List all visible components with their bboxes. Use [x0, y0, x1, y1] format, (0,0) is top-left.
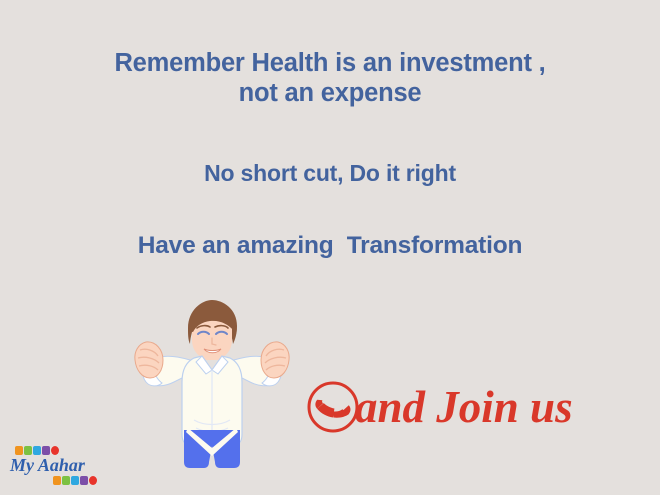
page-title: Remember Health is an investment , not a…	[0, 48, 660, 108]
logo-color-bar-bottom	[53, 476, 106, 485]
phone-circle-icon[interactable]	[305, 379, 361, 435]
logo-wordmark: My Aahar	[10, 456, 106, 475]
poster-canvas: Remember Health is an investment , not a…	[0, 0, 660, 495]
logo-color-bar-top	[15, 446, 106, 455]
cta-label: and Join us	[355, 385, 573, 430]
message-transformation: Have an amazing Transformation	[0, 232, 660, 261]
brand-logo: My Aahar	[10, 446, 106, 485]
call-to-action[interactable]: and Join us	[305, 374, 573, 440]
message-short-cut: No short cut, Do it right	[0, 160, 660, 187]
man-outstretched-arms-illustration	[128, 298, 296, 470]
